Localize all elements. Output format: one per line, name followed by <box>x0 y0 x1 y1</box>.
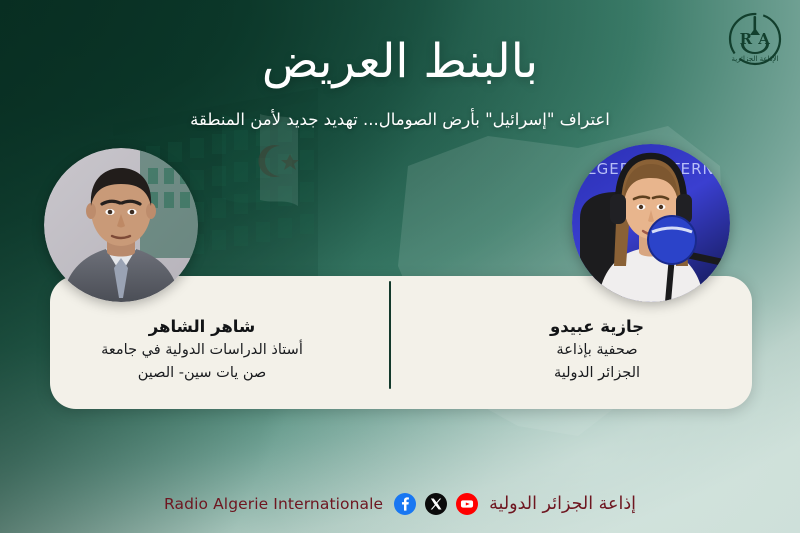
broadcast-graphic-canvas: R A الإذاعة الجزائرية بالبنط العريض اعتر… <box>0 0 800 533</box>
x-twitter-icon[interactable] <box>425 493 447 515</box>
guest-role-right-line2: الجزائر الدولية <box>452 363 742 384</box>
social-links <box>394 493 478 515</box>
facebook-icon[interactable] <box>394 493 416 515</box>
guest-name-left: شاهر الشاهر <box>52 316 352 338</box>
footer-bar: Radio Algerie Internationale <box>0 489 800 519</box>
program-title: بالبنط العريض <box>0 34 800 89</box>
guest-info-right: جازية عبيدو صحفية بإذاعة الجزائر الدولية <box>452 316 742 383</box>
footer-latin-label: Radio Algerie Internationale <box>164 495 383 513</box>
guest-avatar-right: ALGERIE INTERNA <box>572 144 730 302</box>
footer-arabic-label: إذاعة الجزائر الدولية <box>489 494 636 514</box>
guest-avatar-left <box>44 148 198 302</box>
guest-role-left-line1: أستاذ الدراسات الدولية في جامعة <box>52 340 352 361</box>
episode-subtitle: اعتراف "إسرائيل" بأرض الصومال... تهديد ج… <box>0 108 800 131</box>
guest-name-right: جازية عبيدو <box>452 316 742 338</box>
youtube-icon[interactable] <box>456 493 478 515</box>
guest-info-left: شاهر الشاهر أستاذ الدراسات الدولية في جا… <box>52 316 352 383</box>
card-vertical-divider <box>389 281 391 389</box>
guest-role-left-line2: صن يات سين- الصين <box>52 363 352 384</box>
guest-role-right-line1: صحفية بإذاعة <box>452 340 742 361</box>
